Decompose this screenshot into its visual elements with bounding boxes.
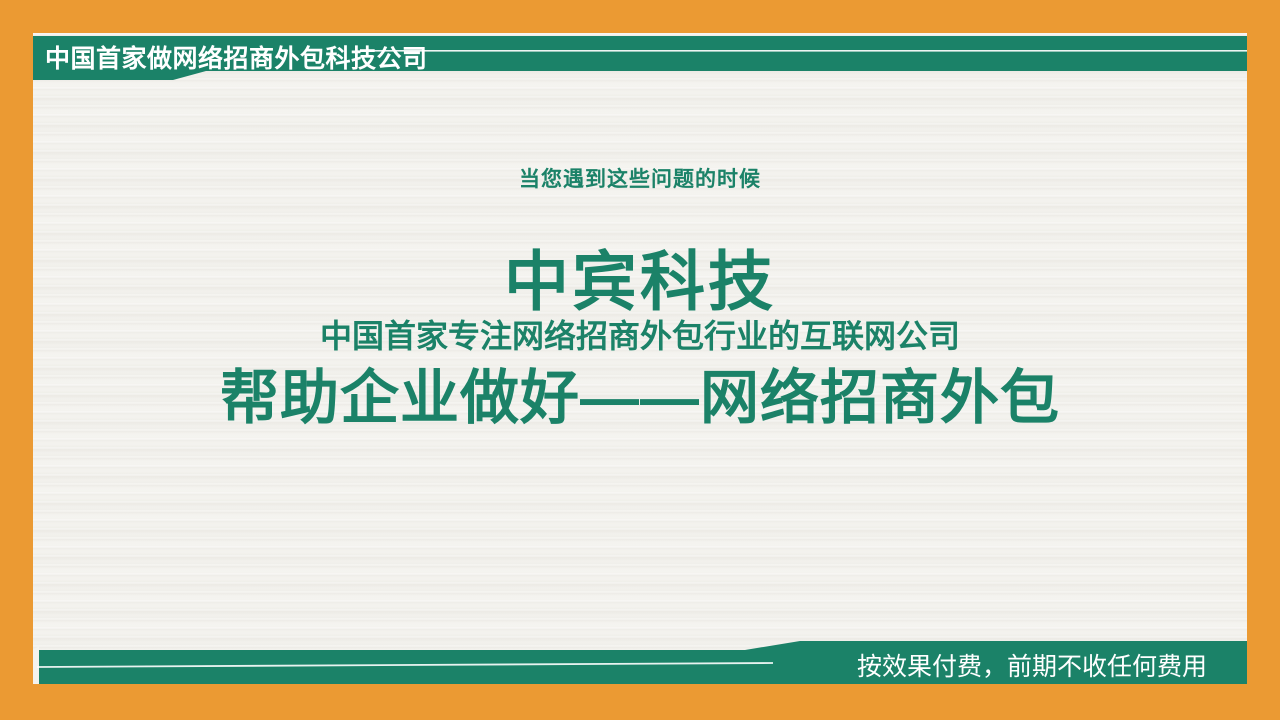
brand-title: 中宾科技 — [33, 243, 1247, 321]
footer-banner-left-notch — [33, 646, 39, 684]
headline-text: 帮助企业做好——网络招商外包 — [33, 355, 1247, 441]
slide-content: 当您遇到这些问题的时候 中宾科技 中国首家专注网络招商外包行业的互联网公司 帮助… — [33, 33, 1247, 684]
tagline-text: 中国首家专注网络招商外包行业的互联网公司 — [33, 313, 1247, 359]
footer-text: 按效果付费，前期不收任何费用 — [817, 650, 1247, 684]
slide-root: 中国首家做网络招商外包科技公司 当您遇到这些问题的时候 中宾科技 中国首家专注网… — [0, 0, 1280, 720]
eyebrow-text: 当您遇到这些问题的时候 — [33, 165, 1247, 195]
